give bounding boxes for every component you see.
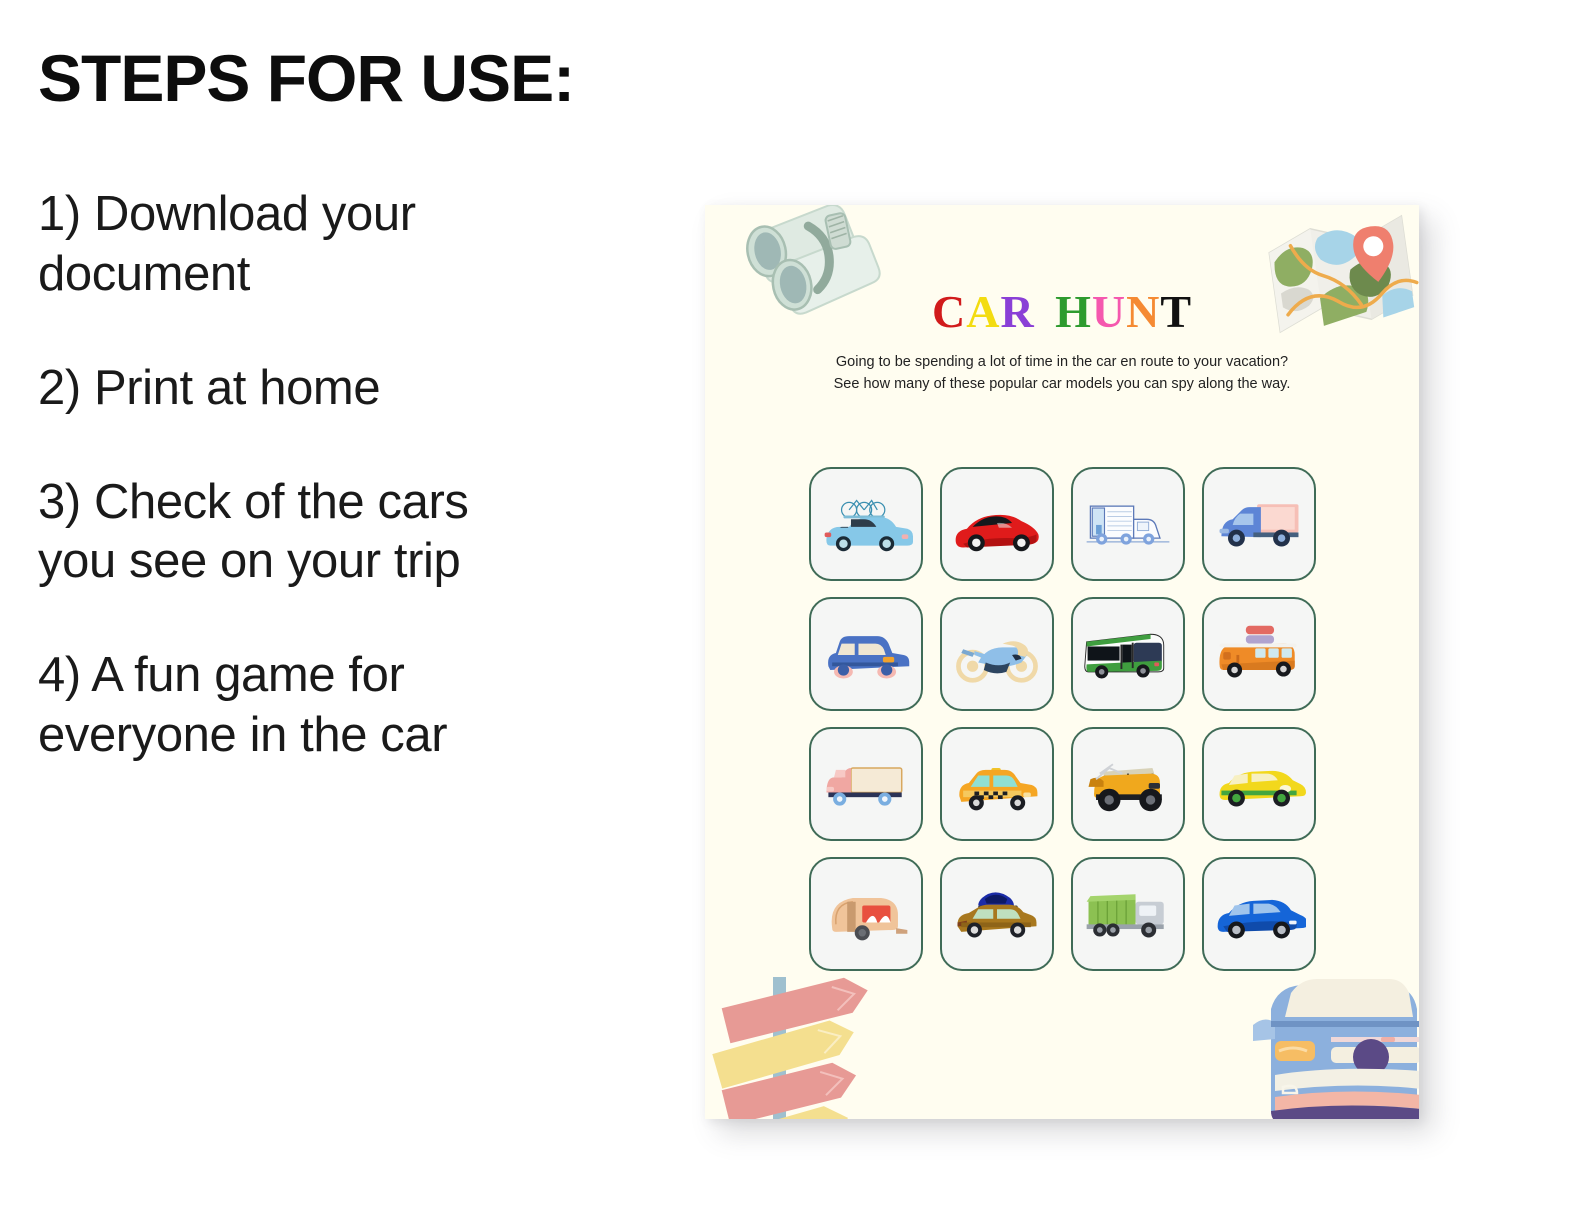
grid-cell-taxi[interactable] [940, 727, 1054, 841]
step-item-2: 2) Print at home [38, 359, 558, 419]
grid-cell-hatchback-roofbox[interactable] [940, 857, 1054, 971]
title-letter-2: R [1000, 289, 1034, 335]
grid-cell-sports-car[interactable] [940, 467, 1054, 581]
grid-cell-garbage-truck[interactable] [1071, 857, 1185, 971]
printable-preview[interactable]: CAR HUNT Going to be spending a lot of t… [705, 205, 1419, 1119]
signpost-icon [709, 947, 909, 1119]
subtitle-line-1: Going to be spending a lot of time in th… [836, 354, 1288, 370]
grid-cell-city-bus[interactable] [1071, 597, 1185, 711]
title-letter-1: A [966, 289, 1000, 335]
title-letter-0: C [932, 289, 966, 335]
grid-cell-yellow-coupe[interactable] [1202, 727, 1316, 841]
title-block: CAR HUNT Going to be spending a lot of t… [705, 289, 1419, 396]
grid-cell-cargo-truck[interactable] [809, 727, 923, 841]
grid-cell-suv[interactable] [809, 597, 923, 711]
step-item-1: 1) Download your document [38, 185, 558, 305]
page-title: STEPS FOR USE: [38, 44, 638, 113]
grid-cell-motorcycle[interactable] [940, 597, 1054, 711]
grid-cell-jeep[interactable] [1071, 727, 1185, 841]
title-letter-5: U [1092, 289, 1126, 335]
title-letter-4: H [1055, 289, 1092, 335]
grid-cell-box-van[interactable] [1202, 467, 1316, 581]
title-letter-3 [1035, 289, 1055, 335]
step-item-3: 3) Check of the cars you see on your tri… [38, 473, 558, 593]
grid-cell-camper-van[interactable] [1202, 597, 1316, 711]
sheet-subtitle: Going to be spending a lot of time in th… [705, 351, 1419, 396]
printable-page: CAR HUNT Going to be spending a lot of t… [705, 205, 1419, 1119]
title-letter-6: N [1126, 289, 1160, 335]
sheet-title: CAR HUNT [705, 289, 1419, 335]
subtitle-line-2: See how many of these popular car models… [834, 376, 1291, 392]
grid-cell-car-with-bikes[interactable] [809, 467, 923, 581]
step-item-4: 4) A fun game for everyone in the car [38, 646, 558, 766]
grid-cell-delivery-truck[interactable] [1071, 467, 1185, 581]
car-front-icon [1235, 951, 1419, 1119]
vehicle-grid [809, 467, 1316, 971]
instructions-panel: STEPS FOR USE: 1) Download your document… [38, 44, 638, 820]
title-letter-7: T [1160, 289, 1192, 335]
